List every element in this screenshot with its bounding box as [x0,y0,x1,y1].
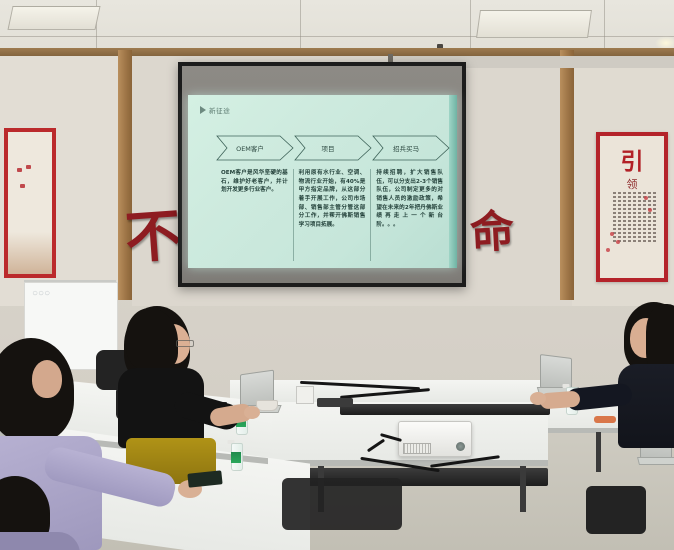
table-rail [340,404,550,415]
chevron-step: 项目 [294,135,370,161]
ceiling-light-panel [7,6,100,30]
projector-lens [456,442,465,451]
chevron-step: 招兵买马 [372,135,448,161]
triangle-bullet-icon [200,106,206,114]
slide-title-row: 新征途 [200,105,230,115]
poster-subhead: 领 [627,176,638,192]
wall-calligraphy-char: 不 [122,190,184,275]
slide-column-text: 持续招聘，扩大销售队伍，可以分支出2-3个销售队伍，公司制定更多的对销售人员的激… [376,169,443,230]
wall-poster-right: 引 领 [596,132,668,282]
presentation-slide: 新征途 OEM客户 项目 招兵买马 [190,97,454,265]
slide-column: OEM客户是风华坚硬的基石，维护好老客户，并计划开发更多行业客户。 [216,169,293,261]
chevron-label: 招兵买马 [372,143,440,153]
slide-column-text: OEM客户是风华坚硬的基石，维护好老客户，并计划开发更多行业客户。 [221,169,288,195]
whiteboard-writing: ○○○ [32,288,72,302]
office-chair[interactable] [282,478,402,530]
chevron-label: 项目 [294,143,362,153]
wall-poster-left [4,128,56,278]
poster-body-text [613,192,656,244]
chevron-row: OEM客户 项目 招兵买马 [216,135,448,161]
ceiling-light-panel [476,10,592,38]
desk-bowl [594,416,616,423]
wall-calligraphy-char: 命 [468,195,515,261]
meeting-room-photo: 引 领 不 忘 命 新征途 OEM客户 [0,0,674,550]
eyeglasses-icon [176,340,194,347]
office-chair[interactable] [586,486,646,534]
poster-headline: 引 [621,150,644,173]
slide-column-text: 利用原有水行业、空调、物流行业开始，有40%是甲方指定品牌，从这部分着手开展工作… [299,169,366,230]
slide-column: 利用原有水行业、空调、物流行业开始，有40%是甲方指定品牌，从这部分着手开展工作… [293,169,371,261]
projector [398,421,472,457]
table-leg [520,466,526,512]
table-leg [596,432,601,472]
power-strip[interactable] [317,398,353,407]
wall-pillar-right [560,50,574,300]
power-adapter [296,386,314,404]
slide-text-columns: OEM客户是风华坚硬的基石，维护好老客户，并计划开发更多行业客户。 利用原有水行… [216,169,448,261]
chevron-step: OEM客户 [216,135,292,161]
slide-title: 新征途 [209,105,230,115]
shoulder [0,532,80,550]
slide-column: 持续招聘，扩大销售队伍，可以分支出2-3个销售队伍，公司制定更多的对销售人员的激… [370,169,448,261]
chevron-label: OEM客户 [216,143,284,153]
